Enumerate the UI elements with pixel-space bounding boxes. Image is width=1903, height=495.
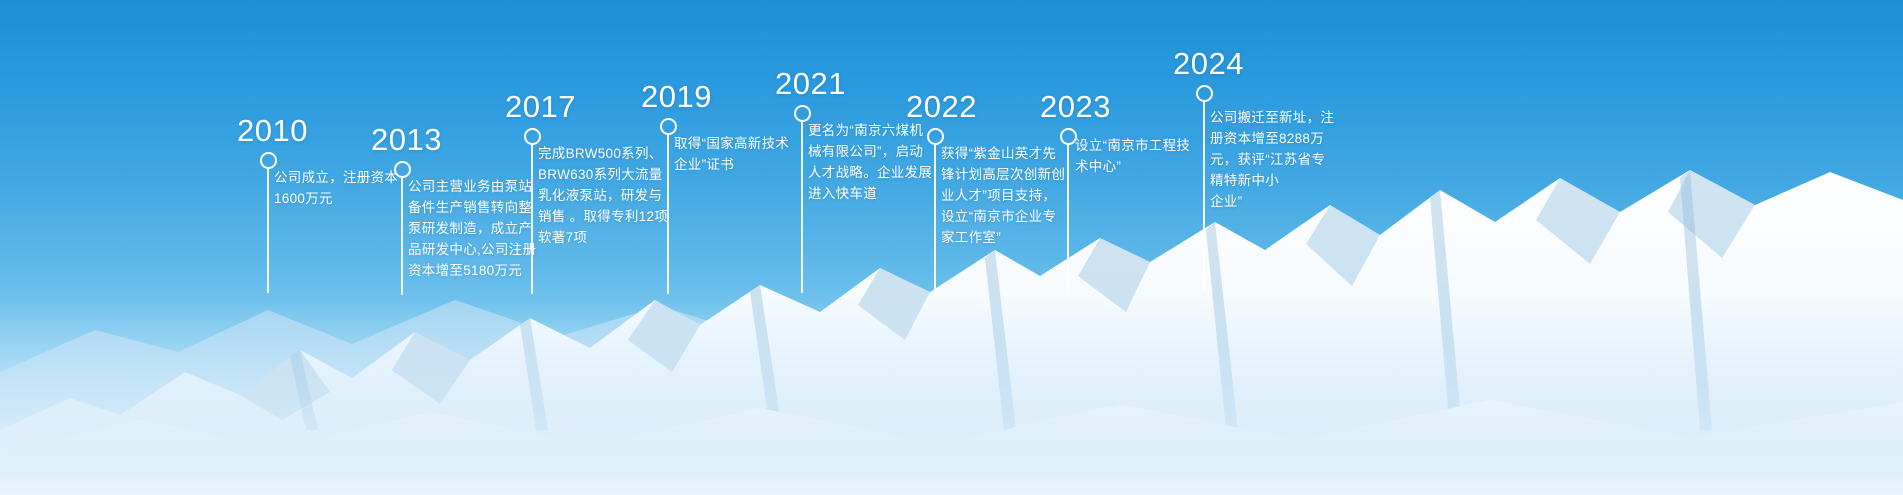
timeline-stem-line <box>1067 144 1069 294</box>
timeline-description: 公司搬迁至新址，注 册资本增至8288万 元，获评“江苏省专 精特新中小 企业” <box>1210 107 1346 212</box>
timeline-description: 取得“国家高新技术 企业”证书 <box>674 133 804 175</box>
timeline-year-label: 2010 <box>237 113 308 149</box>
timeline-description: 完成BRW500系列、 BRW630系列大流量 乳化液泵站，研发与 销售 。取得… <box>538 143 678 248</box>
timeline-description: 公司成立，注册资本 1600万元 <box>274 167 404 209</box>
timeline-description: 获得“紫金山英才先 锋计划高层次创新创 业人才”项目支持， 设立“南京市企业专 … <box>941 143 1077 248</box>
timeline-stem-line <box>401 177 403 295</box>
timeline-marker-dot[interactable] <box>1196 85 1213 102</box>
timeline-stem-line <box>667 134 669 294</box>
timeline-stem-line <box>801 121 803 293</box>
timeline-stem-line <box>267 168 269 293</box>
timeline-description: 设立“南京市工程技 术中心” <box>1075 135 1205 177</box>
timeline-year-label: 2013 <box>371 122 442 158</box>
timeline-year-label: 2024 <box>1173 46 1244 82</box>
timeline-track: 2010公司成立，注册资本 1600万元2013公司主营业务由泵站 备件生产销售… <box>0 0 1903 495</box>
timeline-description: 公司主营业务由泵站 备件生产销售转向整 泵研发制造，成立产 品研发中心,公司注册… <box>408 176 540 281</box>
timeline-stem-line <box>934 144 936 294</box>
timeline-stem-line <box>1203 101 1205 291</box>
timeline-year-label: 2023 <box>1040 89 1111 125</box>
timeline-year-label: 2019 <box>641 79 712 115</box>
timeline-stem-line <box>531 144 533 294</box>
timeline-year-label: 2017 <box>505 89 576 125</box>
timeline-infographic: 2010公司成立，注册资本 1600万元2013公司主营业务由泵站 备件生产销售… <box>0 0 1903 495</box>
timeline-year-label: 2022 <box>906 89 977 125</box>
timeline-description: 更名为“南京六煤机 械有限公司”，启动 人才战略。企业发展 进入快车道 <box>808 120 943 204</box>
timeline-year-label: 2021 <box>775 66 846 102</box>
